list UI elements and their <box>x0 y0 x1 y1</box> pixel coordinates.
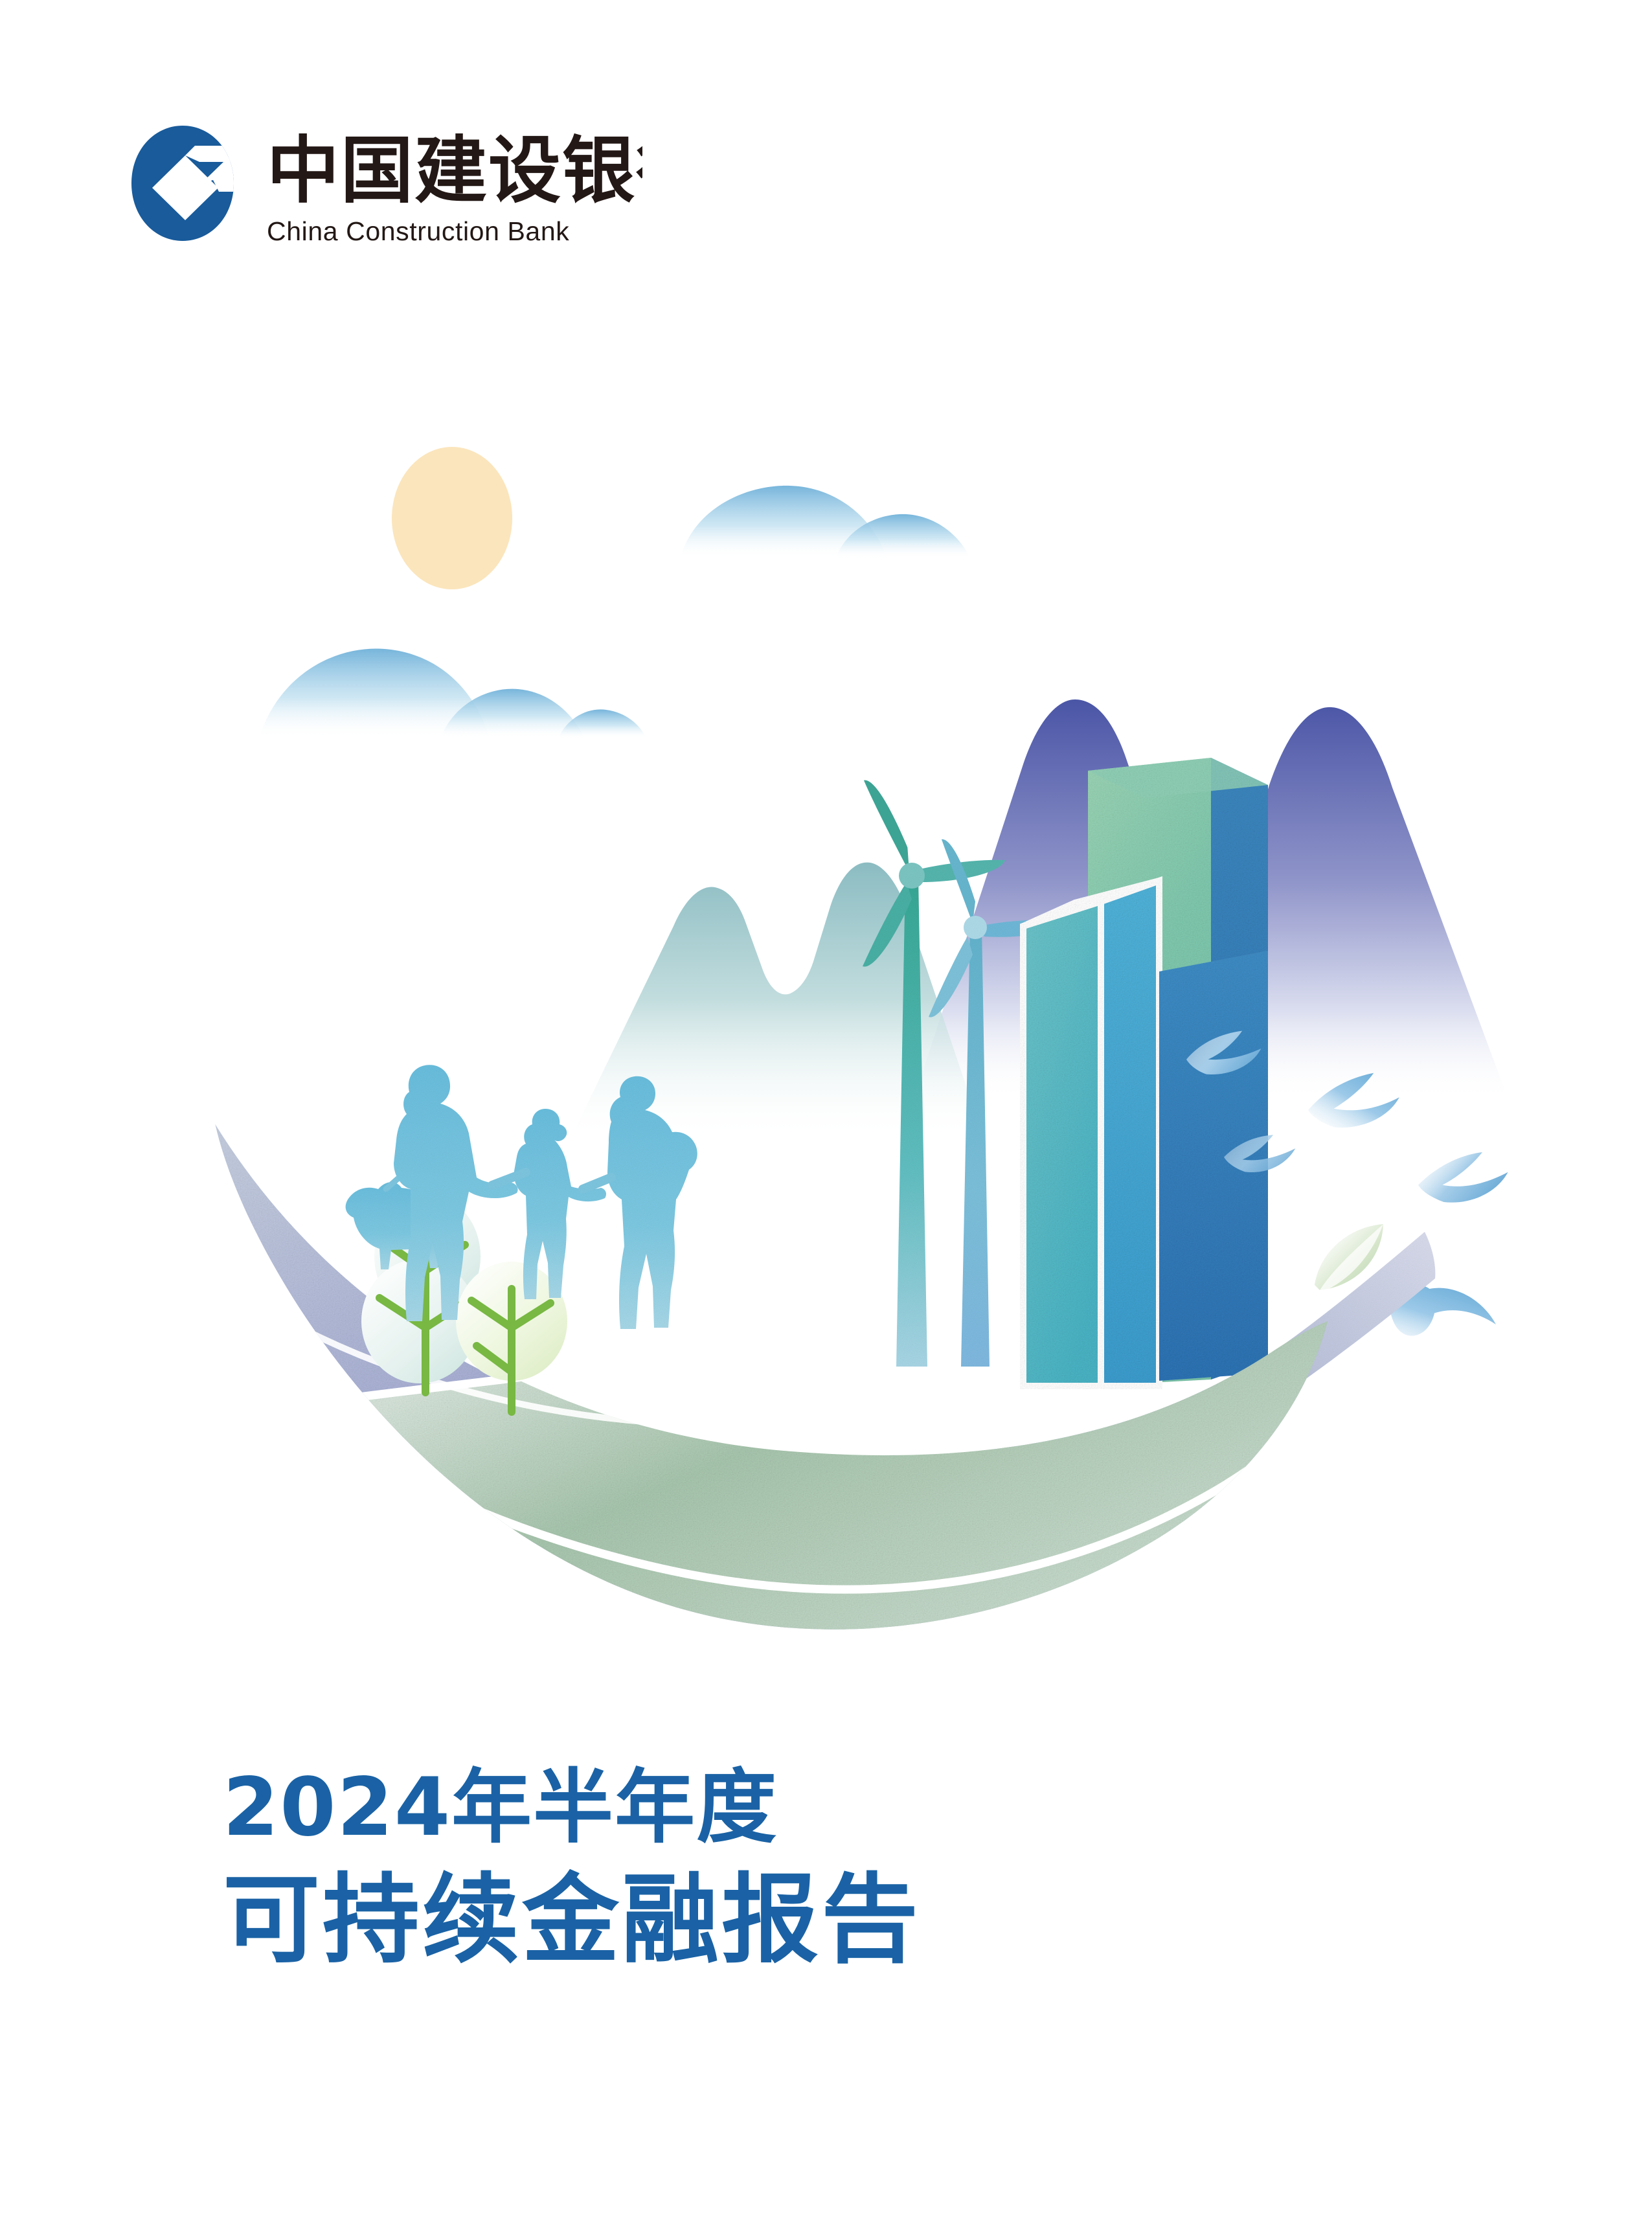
building-teal <box>1023 881 1159 1386</box>
cover-page: 中国建设银行 China Construction Bank <box>0 0 1652 2226</box>
title-line-2: 可持续金融报告 <box>223 1861 921 1979</box>
cloud-left <box>259 648 646 738</box>
ccb-logo-name-en: China Construction Bank <box>267 216 642 247</box>
illustration-canvas <box>0 415 1652 1645</box>
ccb-logo-name-cn-text: 中国建设银行 <box>267 129 642 211</box>
cloud-upper-right <box>680 486 970 558</box>
sun-icon <box>392 447 512 589</box>
bird-4 <box>1418 1152 1508 1203</box>
ccb-logo: 中国建设银行 China Construction Bank <box>128 124 642 247</box>
ccb-logo-text: 中国建设银行 China Construction Bank <box>267 124 642 247</box>
cover-title: 2024年半年度 可持续金融报告 <box>223 1759 921 1979</box>
ccb-logo-mark <box>128 124 237 242</box>
ccb-logo-name-cn: 中国建设银行 <box>267 128 642 211</box>
cover-illustration <box>0 415 1652 1645</box>
title-line-1: 2024年半年度 <box>223 1759 921 1856</box>
